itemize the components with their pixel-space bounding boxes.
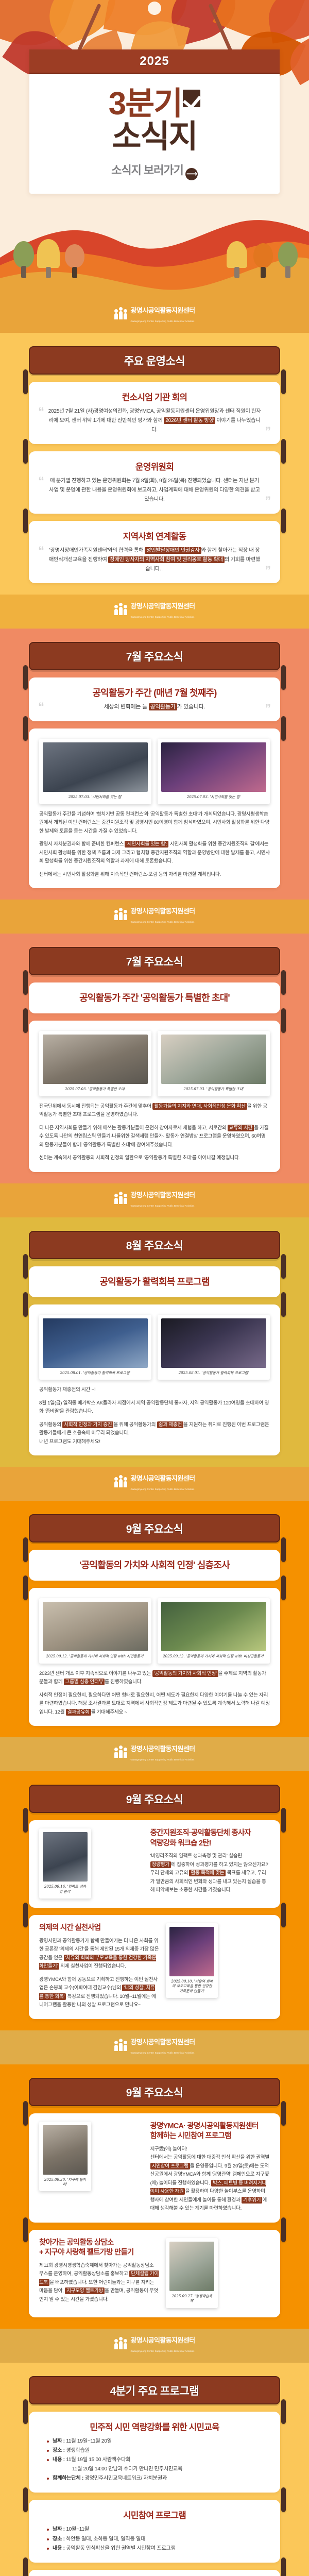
section-title-sep-2: 9월 주요소식	[29, 1785, 280, 1813]
split-card: 2025.09.16. '임팩트 성과 및 관리'중간지원조직·공익활동단체 종…	[29, 1820, 280, 1908]
detail-value: 평생학습원	[66, 2448, 89, 2453]
content-card: 2025.09.12. '공익활동의 가치와 사회적 인정 with 시민활동가…	[29, 1588, 280, 1726]
clip-left-icon	[23, 2101, 28, 2126]
paragraph: 광명YMCA와 함께 공동으로 기획하고 진행하는 이번 실천사업은 손봉희 교…	[39, 1976, 159, 2010]
hero-banner: 2025 3분기 소식지 소식지 보러가기⟶	[0, 0, 309, 299]
clip-right-icon	[281, 1292, 286, 1317]
photo-caption: 2025.07.03. '시민사회를 잇는 힘'	[43, 792, 148, 802]
clip-right-icon	[281, 1808, 286, 1833]
photo-caption: 2025.09.27. '평생학습축제'	[169, 2291, 214, 2306]
newsletter-page: 2025 3분기 소식지 소식지 보러가기⟶	[0, 0, 309, 2576]
news-card: 지역사회 연계활동“'광명시장애인가족지원센터'와의 협력을 통해 성인발달장애…	[29, 521, 280, 583]
content-card: 2025.07.03. '시민사회를 잇는 힘'2025.07.03. '시민사…	[29, 728, 280, 888]
brand-name-ko: 광명시공익활동지원센터	[131, 2336, 195, 2344]
photo-row: 2025.07.03. '공익활동가 특별한 초대'2025.07.03. '공…	[39, 1031, 270, 1096]
highlight-text: 사회적 인정과 가치 증진	[62, 1421, 113, 1428]
people-logo-icon	[114, 2043, 127, 2051]
bullet-icon	[47, 2529, 49, 2531]
detail-value: 하안동 일대, 소하동 일대, 일직동 일대	[66, 2536, 145, 2542]
clip-left-icon	[23, 509, 28, 533]
section-title-q4: 4분기 주요 프로그램	[29, 2376, 280, 2404]
trees-decoration	[0, 232, 309, 278]
group-interview-photo-2	[161, 1602, 266, 1651]
clip-left-icon	[23, 439, 28, 464]
photo-card: 2025.09.16. '임팩트 성과 및 관리'	[39, 1828, 91, 1899]
article-body: 전국단위에서 동시에 진행되는 공익활동가 주간에 맞추어 활동가들의 지지와 …	[39, 1103, 270, 1163]
program-detail-item: 날짜 : 11월 19일~11월 20일	[53, 2437, 270, 2446]
brand-name-en: Gwangmyeong Center Supporting Public Ben…	[131, 1758, 195, 1761]
brand-name-en: Gwangmyeong Center Supporting Public Ben…	[131, 921, 195, 923]
hero-cta-label: 소식지 보러가기	[111, 164, 183, 177]
card-title: 공익활동가 주간 (매년 7월 첫째주)	[39, 686, 270, 699]
highlight-text: 장애인 당사자의 지역사회 참여 및 권리옹호 활동 확대	[108, 556, 225, 563]
program-detail-item: 내용 : 공익활동 인식확산을 위한 권역별 시민참여 프로그램	[53, 2544, 270, 2553]
paragraph: 공익활동가 주간을 기념하여 '협치기반 공동 컨퍼런스'와 '공익활동가 특별…	[39, 810, 270, 836]
section-q4: 4분기 주요 프로그램민주적 시민 역량강화를 위한 시민교육날짜 : 11월 …	[0, 2363, 309, 2576]
section-july-1: 7월 주요소식공익활동가 주간 (매년 7월 첫째주)“세상의 변화에는 늘 공…	[0, 629, 309, 900]
section-sep-2: 9월 주요소식2025.09.16. '임팩트 성과 및 관리'중간지원조직·공…	[0, 1771, 309, 2030]
photo-caption: 2025.09.12. '공익활동의 가치와 사회적 인정 with 비상근활동…	[161, 1651, 266, 1661]
quote-open-icon: “	[38, 476, 44, 488]
detail-value: 10월~11월	[66, 2527, 89, 2532]
section-title-aug: 8월 주요소식	[29, 1231, 280, 1259]
block-heading: 광명YMCA· 광명시공익활동지원센터함께하는 시민참여 프로그램	[150, 2122, 270, 2142]
clip-left-icon	[23, 665, 28, 690]
photo-card: 2025.09.20. '지구애 놀이터'	[39, 2122, 91, 2192]
check-box-icon	[183, 90, 200, 107]
cinema-audience-photo	[161, 1318, 266, 1368]
brand-name-ko: 광명시공익활동지원센터	[131, 1475, 195, 1482]
card-subquote: “세상의 변화에는 늘 공익활동가가 있습니다.”	[39, 702, 270, 712]
view-newsletter-button[interactable]: 소식지 보러가기⟶	[29, 161, 280, 180]
section-aug: 8월 주요소식공익활동가 활력회복 프로그램2025.08.01. '공익활동가…	[0, 1217, 309, 1467]
card-title: 운영위원회	[39, 460, 270, 472]
clip-right-icon	[281, 369, 286, 394]
highlight-text: 정량평가	[150, 1861, 171, 1868]
card-title: 지역사회 연계활동	[39, 529, 270, 542]
photo-card: 2025.07.03. '시민사회를 잇는 힘'	[158, 739, 270, 804]
split-card: 2025.09.20. '지구애 놀이터'광명YMCA· 광명시공익활동지원센터…	[29, 2113, 280, 2223]
detail-subvalue: 11월 20일 14:00 만남과 수다가 만나면 민주시민교육	[53, 2465, 270, 2474]
photo-card: 2025.09.27. '평생학습축제'	[166, 2238, 218, 2308]
photo-caption: 2025.07.03. '공익활동가 특별한 초대'	[43, 1084, 148, 1094]
block-heading: 중간지원조직·공익활동단체 종사자역량강화 워크숍 2탄!	[150, 1828, 270, 1849]
hero-year: 2025	[29, 49, 280, 74]
brand-footer: 광명시공익활동지원센터Gwangmyeong Center Supporting…	[0, 1183, 309, 1217]
clip-left-icon	[23, 1292, 28, 1317]
block-heading: 찾아가는 공익활동 상담소+ 지구야 사랑해 펠트가방 만들기	[39, 2238, 159, 2258]
news-card: 컨소시엄 기관 회의“2025년 7월 21일 (사)광명여성의전화, 광명YM…	[29, 382, 280, 444]
photo-card: 2025.07.03. '공익활동가 특별한 초대'	[158, 1031, 270, 1096]
photo-card: 2025.09.12. '공익활동의 가치와 사회적 인정 with 비상근활동…	[158, 1598, 270, 1663]
center-logo: 광명시공익활동지원센터Gwangmyeong Center Supporting…	[114, 2336, 195, 2354]
block-body: 지구愛(애) 놀이터!센터에서는 공익활동에 대한 대중적 인식 확산을 위한 …	[150, 2145, 270, 2213]
section-main-news: 주요 운영소식컨소시엄 기관 회의“2025년 7월 21일 (사)광명여성의전…	[0, 333, 309, 595]
clip-left-icon	[23, 1575, 28, 1600]
detail-label: 내용 :	[53, 2546, 66, 2551]
paragraph: 광명시민과 공익활동가가 함께 만들어가는 더 나은 사회를 위한 공론장 '의…	[39, 1937, 159, 1971]
people-logo-icon	[114, 1750, 127, 1758]
program-details: 날짜 : 10월~11월장소 : 하안동 일대, 소하동 일대, 일직동 일대내…	[39, 2525, 270, 2553]
photo-column: 2025.09.10. '치유와 회복의 부모교육을 통한 건강한 가족문화 만…	[166, 1923, 270, 1998]
clip-left-icon	[23, 2217, 28, 2242]
program-card: 시민참여 프로그램날짜 : 10월~11월장소 : 하안동 일대, 소하동 일대…	[29, 2500, 280, 2562]
text-column: 중간지원조직·공익활동단체 종사자역량강화 워크숍 2탄!'비영리조직의 임팩트…	[150, 1828, 270, 1895]
card-title: 컨소시엄 기관 회의	[39, 390, 270, 403]
clip-right-icon	[281, 716, 286, 741]
bullet-icon	[47, 2459, 49, 2461]
content-card: 2025.07.03. '공익활동가 특별한 초대'2025.07.03. '공…	[29, 1021, 280, 1172]
paragraph: 제11회 광명시평생학습축제에서 찾아가는 공익활동상담소 부스를 운영하여, …	[39, 2262, 159, 2304]
card-body: “2025년 7월 21일 (사)광명여성의전화, 광명YMCA, 공익활동지원…	[39, 407, 270, 435]
highlight-text: 박스, 페트병 등 버려지거나 이미 사용한 자원	[150, 2180, 266, 2195]
center-logo: 광명시공익활동지원센터Gwangmyeong Center Supporting…	[114, 1191, 195, 1209]
photo-card: 2025.07.03. '시민사회를 잇는 힘'	[39, 739, 151, 804]
article-body: 공익활동가 재충전의 시간 ~!8월 1일(금) 일직동 메가박스 AK플라자 …	[39, 1386, 270, 1446]
bullet-icon	[47, 2478, 49, 2480]
clip-left-icon	[23, 2487, 28, 2512]
center-logo: 광명시공익활동지원센터Gwangmyeong Center Supporting…	[114, 1474, 195, 1493]
detail-label: 장소 :	[53, 2536, 66, 2542]
quote-close-icon: ”	[265, 703, 271, 715]
section-july-2: 7월 주요소식공익활동가 주간 '공익활동가 특별한 초대'2025.07.03…	[0, 934, 309, 1183]
section-title-july-1: 7월 주요소식	[29, 642, 280, 670]
bullet-icon	[47, 2441, 49, 2443]
highlight-text: '공익활동의 가치와 사회적 인정'	[152, 1670, 218, 1677]
program-detail-item: 장소 : 하안동 일대, 소하동 일대, 일직동 일대	[53, 2535, 270, 2544]
paragraph: 사회적 인정이 필요한지, 필요하다면 어떤 형태로 필요한지, 어떤 제도가 …	[39, 1691, 270, 1717]
brand-footer: 광명시공익활동지원센터Gwangmyeong Center Supporting…	[0, 2030, 309, 2064]
clip-right-icon	[281, 1008, 286, 1033]
program-name: 민주적 시민 역량강화를 위한 시민교육	[39, 2420, 270, 2433]
highlight-text: 성인발달장애인 인권강사	[145, 547, 201, 554]
detail-label: 함께하는단체 :	[53, 2476, 85, 2481]
highlight-text: 단체설립 가이드북	[39, 2270, 159, 2286]
brand-name-ko: 광명시공익활동지원센터	[131, 907, 195, 915]
clip-right-icon	[281, 439, 286, 464]
clip-left-icon	[23, 1537, 28, 1562]
section-title-sep-3: 9월 주요소식	[29, 2078, 280, 2106]
section-sep-3: 9월 주요소식2025.09.20. '지구애 놀이터'광명YMCA· 광명시공…	[0, 2064, 309, 2329]
highlight-text: 그룹별 심층 인터뷰	[64, 1679, 105, 1685]
quote-open-icon: “	[38, 701, 44, 714]
card-title: 공익활동가 주간 '공익활동가 특별한 초대'	[39, 991, 270, 1004]
detail-label: 날짜 :	[53, 2527, 66, 2532]
split-layout: 2025.09.10. '치유와 회복의 부모교육을 통한 건강한 가족문화 만…	[39, 1923, 270, 2010]
center-logo: 광명시공익활동지원센터Gwangmyeong Center Supporting…	[114, 1744, 195, 1763]
photo-column: 2025.09.16. '임팩트 성과 및 관리'	[39, 1828, 143, 1899]
photo-column: 2025.09.20. '지구애 놀이터'	[39, 2122, 143, 2192]
brand-name-en: Gwangmyeong Center Supporting Public Ben…	[131, 1205, 195, 1207]
brand-footer: 광명시공익활동지원센터 Gwangmyeong Center Supportin…	[0, 299, 309, 333]
workshop-classroom-photo	[43, 1832, 88, 1882]
bullet-icon	[47, 2548, 49, 2550]
photo-card: 2025.09.12. '공익활동의 가치와 사회적 인정 with 시민활동가…	[39, 1598, 151, 1663]
photo-card: 2025.08.01. '공익활동가 활력회복 프로그램'	[39, 1315, 151, 1380]
split-layout: 2025.09.20. '지구애 놀이터'광명YMCA· 광명시공익활동지원센터…	[39, 2122, 270, 2213]
clip-right-icon	[281, 1903, 286, 1927]
highlight-text: 기후위기	[242, 2197, 262, 2204]
card-body: “매 분기별 진행하고 있는 운영위원회는 7월 8일(화), 9월 25일(목…	[39, 477, 270, 504]
clip-left-icon	[23, 369, 28, 394]
highlight-text: 쉼과 재충전	[157, 1421, 183, 1428]
earth-globe-booth-photo	[43, 2125, 88, 2175]
card-title: 공익활동가 활력회복 프로그램	[39, 1275, 270, 1288]
people-logo-icon	[114, 311, 127, 319]
card-body: “'광명시장애인가족지원센터'와의 협력을 통해 성인발달장애인 인권강사와 함…	[39, 546, 270, 574]
news-card: 운영위원회“매 분기별 진행하고 있는 운영위원회는 7월 8일(화), 9월 …	[29, 451, 280, 514]
paragraph: 광명시 자치분권과와 함께 준비한 컨퍼런스 '시민사회를 잇는 힘': 시민사…	[39, 840, 270, 866]
quote-open-icon: “	[38, 406, 44, 418]
clip-right-icon	[281, 1254, 286, 1279]
audience-auditorium-photo	[161, 742, 266, 792]
clip-right-icon	[281, 2399, 286, 2424]
paragraph: 센터는 계속해서 공익활동의 사회적 인정의 일환으로 '공익활동가 특별한 초…	[39, 1154, 270, 1163]
clip-right-icon	[281, 665, 286, 690]
brand-footer: 광명시공익활동지원센터Gwangmyeong Center Supporting…	[0, 900, 309, 934]
photo-caption: 2025.08.01. '공익활동가 활력회복 프로그램'	[161, 1368, 266, 1378]
highlight-text: 결과공유회	[66, 1709, 91, 1716]
content-card: 2025.08.01. '공익활동가 활력회복 프로그램'2025.08.01.…	[29, 1304, 280, 1455]
clip-left-icon	[23, 1008, 28, 1033]
detail-value: 11월 19일~11월 20일	[66, 2438, 111, 2444]
photo-card: 2025.09.10. '치유와 회복의 부모교육을 통한 건강한 가족문화 만…	[166, 1923, 218, 1998]
brand-name-ko: 광명시공익활동지원센터	[131, 2038, 195, 2046]
photo-caption: 2025.09.16. '임팩트 성과 및 관리'	[43, 1882, 88, 1896]
people-logo-icon	[114, 607, 127, 615]
brand-name-en: Gwangmyeong Center Supporting Public Ben…	[131, 2350, 195, 2352]
paragraph: 공익활동가 재충전의 시간 ~!	[39, 1386, 270, 1395]
hero-title-line1: 3분기	[109, 86, 182, 122]
brand-name-en: Gwangmyeong Center Supporting Public Ben…	[131, 616, 195, 618]
program-detail-item: 날짜 : 10월~11월	[53, 2525, 270, 2534]
clip-right-icon	[281, 970, 286, 995]
highlight-text: 활동가들의 지지와 연대, 사회적인정 문화 확산	[152, 1103, 247, 1110]
clip-right-icon	[281, 509, 286, 533]
program-detail-item: 내용 : 11월 19일 15:00 사람책수다회11월 20일 14:00 만…	[53, 2455, 270, 2474]
quote-open-icon: “	[38, 545, 44, 557]
photo-row: 2025.09.12. '공익활동의 가치와 사회적 인정 with 시민활동가…	[39, 1598, 270, 1663]
paragraph: 더 나은 지역사회를 만들기 위해 애쓰는 활동가분들이 온전히 참여자로서 체…	[39, 1124, 270, 1150]
people-logo-icon	[114, 1479, 127, 1487]
paragraph: 센터에서는 시민사회 활성화를 위해 지속적인 컨퍼런스·포럼 등의 자리를 마…	[39, 871, 270, 879]
clip-right-icon	[281, 2217, 286, 2242]
detail-label: 장소 :	[53, 2448, 66, 2453]
paragraph: 2023년 센터 개소 이후 지속적으로 이야기를 나누고 있는 '공익활동의 …	[39, 1670, 270, 1687]
highlight-text: 공익활동가	[149, 703, 177, 710]
split-layout: 2025.09.27. '평생학습축제'찾아가는 공익활동 상담소+ 지구야 사…	[39, 2238, 270, 2308]
headline-card: 공익활동가 주간 '공익활동가 특별한 초대'	[29, 982, 280, 1013]
block-body: '비영리조직의 임팩트 성과측정 및 관리' 실습편정량평가에 집중하여 성과평…	[150, 1852, 270, 1895]
highlight-text: 시민참여 프로그램	[150, 2163, 190, 2170]
brand-name-en: Gwangmyeong Center Supporting Public Ben…	[131, 320, 195, 323]
photo-row: 2025.08.01. '공익활동가 활력회복 프로그램'2025.08.01.…	[39, 1315, 270, 1380]
clip-right-icon	[281, 2487, 286, 2512]
highlight-text: '시민사회를 잇는 힘':	[125, 841, 168, 848]
highlight-text: 2026년 센터 활동 방향	[164, 417, 215, 424]
arrow-right-icon: ⟶	[185, 168, 198, 180]
article-body: 공익활동가 주간을 기념하여 '협치기반 공동 컨퍼런스'와 '공익활동가 특별…	[39, 810, 270, 879]
brand-name-ko: 광명시공익활동지원센터	[131, 602, 195, 610]
center-logo: 광명시공익활동지원센터Gwangmyeong Center Supporting…	[114, 907, 195, 925]
section-title-july-2: 7월 주요소식	[29, 947, 280, 975]
brand-name-en: Gwangmyeong Center Supporting Public Ben…	[131, 2052, 195, 2054]
program-card: 민주적 시민 역량강화를 위한 시민교육날짜 : 11월 19일~11월 20일…	[29, 2412, 280, 2493]
clip-left-icon	[23, 970, 28, 995]
panel-discussion-photo	[43, 742, 148, 792]
headline-card: 공익활동가 주간 (매년 7월 첫째주)“세상의 변화에는 늘 공익활동가가 있…	[29, 677, 280, 721]
paragraph: 전국단위에서 동시에 진행되는 공익활동가 주간에 맞추어 활동가들의 지지와 …	[39, 1103, 270, 1120]
highlight-text: 교류의 시간	[228, 1125, 254, 1131]
people-logo-icon	[114, 1196, 127, 1204]
photo-column: 2025.09.27. '평생학습축제'	[166, 2238, 270, 2308]
center-logo: 광명시공익활동지원센터Gwangmyeong Center Supporting…	[114, 602, 195, 620]
photo-caption: 2025.07.03. '시민사회를 잇는 힘'	[161, 792, 266, 802]
brand-name-ko: 광명시공익활동지원센터	[131, 1745, 195, 1753]
cinema-lobby-banner-photo	[43, 1318, 148, 1368]
photo-caption: 2025.09.12. '공익활동의 가치와 사회적 인정 with 시민활동가…	[43, 1651, 148, 1661]
detail-label: 내용 :	[53, 2457, 66, 2463]
clip-right-icon	[281, 2101, 286, 2126]
detail-value: 공익활동 인식확산을 위한 권역별 시민참여 프로그램	[66, 2546, 175, 2551]
clip-left-icon	[23, 1903, 28, 1927]
split-card: 2025.09.10. '치유와 회복의 부모교육을 통한 건강한 가족문화 만…	[29, 1915, 280, 2019]
highlight-text: 활동 목적에 맞는	[189, 1870, 226, 1876]
section-title-sep-1: 9월 주요소식	[29, 1514, 280, 1543]
section-title-main-news: 주요 운영소식	[29, 346, 280, 375]
lecture-room-photo	[169, 1927, 214, 1976]
center-logo: 광명시공익활동지원센터Gwangmyeong Center Supporting…	[114, 2038, 195, 2056]
block-heading: 의제의 시간 실천사업	[39, 1923, 159, 1934]
photo-caption: 2025.07.03. '공익활동가 특별한 초대'	[161, 1084, 266, 1094]
block-body: 제11회 광명시평생학습축제에서 찾아가는 공익활동상담소 부스를 운영하여, …	[39, 2262, 159, 2304]
headline-card: 공익활동가 활력회복 프로그램	[29, 1266, 280, 1297]
program-details: 날짜 : 11월 19일~11월 20일장소 : 평생학습원내용 : 11월 1…	[39, 2437, 270, 2484]
people-logo-icon	[114, 912, 127, 920]
clip-right-icon	[281, 1575, 286, 1600]
brand-name-ko: 광명시공익활동지원센터	[131, 1191, 195, 1199]
clip-left-icon	[23, 1808, 28, 1833]
text-column: 광명YMCA· 광명시공익활동지원센터함께하는 시민참여 프로그램지구愛(애) …	[150, 2122, 270, 2213]
group-photo	[161, 1035, 266, 1084]
brand-name-ko: 광명시공익활동지원센터	[131, 307, 195, 314]
detail-value: 11월 19일 15:00 사람책수다회	[66, 2457, 130, 2463]
photo-row: 2025.07.03. '시민사회를 잇는 힘'2025.07.03. '시민사…	[39, 739, 270, 804]
workshop-tables-photo	[43, 1035, 148, 1084]
article-body: 2023년 센터 개소 이후 지속적으로 이야기를 나누고 있는 '공익활동의 …	[39, 1670, 270, 1717]
clip-left-icon	[23, 2557, 28, 2576]
highlight-text: '치유와 회복의 부모교육을 통한 건강한 가족문화만들기'	[39, 1955, 156, 1970]
quote-close-icon: ”	[265, 565, 271, 577]
bullet-icon	[47, 2450, 49, 2452]
text-column: 찾아가는 공익활동 상담소+ 지구야 사랑해 펠트가방 만들기제11회 광명시평…	[39, 2238, 159, 2304]
brand-footer: 광명시공익활동지원센터Gwangmyeong Center Supporting…	[0, 2329, 309, 2363]
photo-card: 2025.08.01. '공익활동가 활력회복 프로그램'	[158, 1315, 270, 1380]
photo-card: 2025.07.03. '공익활동가 특별한 초대'	[39, 1031, 151, 1096]
paragraph: 8월 1일(금) 일직동 메가박스 AK플라자 지점에서 지역 공익활동단체 종…	[39, 1399, 270, 1416]
split-card: 2025.09.27. '평생학습축제'찾아가는 공익활동 상담소+ 지구야 사…	[29, 2230, 280, 2317]
brand-footer: 광명시공익활동지원센터Gwangmyeong Center Supporting…	[0, 1467, 309, 1501]
clip-right-icon	[281, 2557, 286, 2576]
detail-label: 날짜 :	[53, 2438, 66, 2444]
photo-caption: 2025.09.20. '지구애 놀이터'	[43, 2175, 88, 2190]
brand-footer: 광명시공익활동지원센터Gwangmyeong Center Supporting…	[0, 1737, 309, 1771]
brand-name-en: Gwangmyeong Center Supporting Public Ben…	[131, 1488, 195, 1490]
block-body: 광명시민과 공익활동가가 함께 만들어가는 더 나은 사회를 위한 공론장 '의…	[39, 1937, 159, 2010]
hero-calendar-card: 2025 3분기 소식지 소식지 보러가기⟶	[29, 49, 280, 194]
outdoor-booth-children-photo	[169, 2242, 214, 2291]
paragraph: '비영리조직의 임팩트 성과측정 및 관리' 실습편정량평가에 집중하여 성과평…	[150, 1852, 270, 1895]
people-logo-icon	[114, 2341, 127, 2349]
center-logo: 광명시공익활동지원센터 Gwangmyeong Center Supportin…	[114, 306, 195, 325]
quote-close-icon: ”	[265, 495, 271, 507]
detail-value: 광명민주시민교육네트워크/ 자치분권과	[85, 2476, 167, 2481]
photo-caption: 2025.09.10. '치유와 회복의 부모교육을 통한 건강한 가족문화 만…	[169, 1976, 214, 1996]
clip-left-icon	[23, 2399, 28, 2424]
page-title: 3분기 소식지	[29, 88, 280, 154]
photo-caption: 2025.08.01. '공익활동가 활력회복 프로그램'	[43, 1368, 148, 1378]
clip-left-icon	[23, 716, 28, 741]
hills-decoration	[0, 201, 309, 299]
highlight-text: 지구모양 펠트가방	[65, 2287, 105, 2294]
sections-container: 주요 운영소식컨소시엄 기관 회의“2025년 7월 21일 (사)광명여성의전…	[0, 333, 309, 2576]
highlight-text: '나의 성찰, 치유를 통한 회복'	[39, 1985, 155, 2000]
card-title: '공익활동의 가치와 사회적 인정' 심층조사	[39, 1558, 270, 1571]
quote-close-icon: ”	[265, 426, 271, 438]
paragraph: 지구愛(애) 놀이터!센터에서는 공익활동에 대한 대중적 인식 확산을 위한 …	[150, 2145, 270, 2213]
clip-left-icon	[23, 1254, 28, 1279]
split-layout: 2025.09.16. '임팩트 성과 및 관리'중간지원조직·공익활동단체 종…	[39, 1828, 270, 1899]
bullet-icon	[47, 2538, 49, 2540]
group-interview-photo-1	[43, 1602, 148, 1651]
headline-card: '공익활동의 가치와 사회적 인정' 심층조사	[29, 1550, 280, 1581]
text-column: 의제의 시간 실천사업광명시민과 공익활동가가 함께 만들어가는 더 나은 사회…	[39, 1923, 159, 2010]
paragraph: 공익활동의 사회적 인정과 가치 증진을 위해 공익활동가의 쉼과 재충전을 지…	[39, 1421, 270, 1447]
program-card: '공익활동가 특별한 초대'날짜 : 12월 중장소 : 광명시공익활동지원센터…	[29, 2570, 280, 2576]
brand-footer: 광명시공익활동지원센터Gwangmyeong Center Supporting…	[0, 595, 309, 629]
program-detail-item: 함께하는단체 : 광명민주시민교육네트워크/ 자치분권과	[53, 2474, 270, 2483]
clip-right-icon	[281, 1537, 286, 1562]
program-detail-item: 장소 : 평생학습원	[53, 2446, 270, 2455]
section-sep-1: 9월 주요소식'공익활동의 가치와 사회적 인정' 심층조사2025.09.12…	[0, 1501, 309, 1737]
hero-title-line2: 소식지	[29, 121, 280, 154]
program-name: 시민참여 프로그램	[39, 2508, 270, 2521]
